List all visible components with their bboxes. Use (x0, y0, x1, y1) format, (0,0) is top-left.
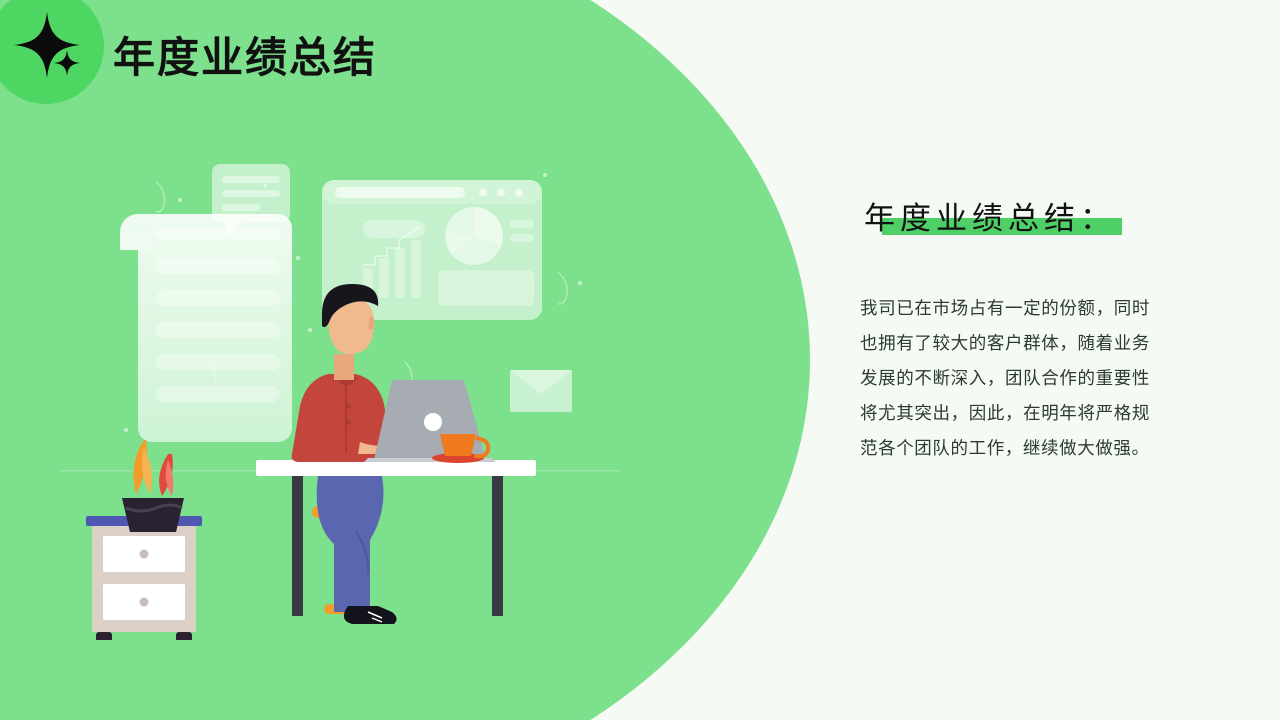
laptop (364, 380, 496, 462)
summary-body-text: 我司已在市场占有一定的份额，同时也拥有了较大的客户群体，随着业务发展的不断深入，… (860, 291, 1150, 466)
pie-chart-shape (445, 207, 503, 265)
slide-canvas: 年度业绩总结 (0, 0, 1280, 720)
illustration-svg (60, 140, 620, 640)
document-paper-shape (120, 214, 292, 442)
sparkle-small-icon (54, 50, 80, 76)
page-title: 年度业绩总结 (113, 38, 377, 80)
summary-heading-wrap: 年度业绩总结： (860, 200, 1118, 239)
potted-plant (122, 440, 184, 532)
summary-heading: 年度业绩总结： (864, 200, 1116, 239)
illustration (60, 140, 620, 640)
desk (256, 460, 536, 616)
envelope-shape (510, 370, 572, 412)
summary-panel: 年度业绩总结： 我司已在市场占有一定的份额，同时也拥有了较大的客户群体，随着业务… (860, 200, 1190, 466)
nightstand-cabinet (86, 516, 202, 640)
